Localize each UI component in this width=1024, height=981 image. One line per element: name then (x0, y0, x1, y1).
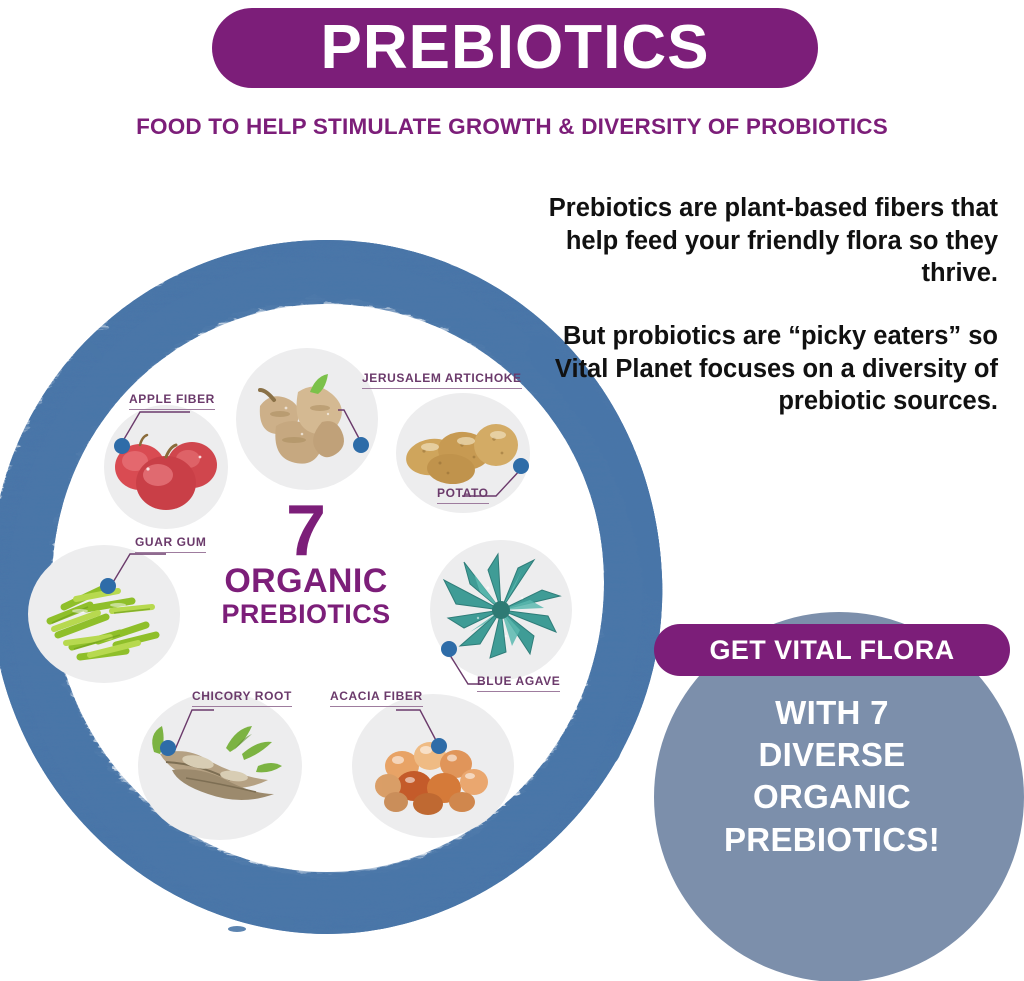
center-line-prebiotics: PREBIOTICS (200, 600, 412, 630)
prebiotic-count: 7 (200, 498, 412, 564)
center-line-organic: ORGANIC (200, 564, 412, 600)
food-label-potato: POTATO (437, 486, 489, 504)
intro-copy: Prebiotics are plant-based fibers that h… (538, 192, 998, 418)
infographic-canvas: PREBIOTICS FOOD TO HELP STIMULATE GROWTH… (0, 0, 1024, 981)
cta-line-3: ORGANIC (654, 776, 1010, 818)
food-label-guar-gum: GUAR GUM (135, 535, 206, 553)
chicory-root-icon (138, 692, 302, 840)
marker-dot-acacia-fiber (431, 738, 447, 754)
marker-dot-chicory-root (160, 740, 176, 756)
page-title-pill: PREBIOTICS (212, 8, 818, 88)
page-subtitle: FOOD TO HELP STIMULATE GROWTH & DIVERSIT… (0, 114, 1024, 140)
food-circle-apple-fiber (104, 405, 228, 529)
marker-dot-guar-gum (100, 578, 116, 594)
guar-bean-icon (28, 545, 180, 683)
food-circle-jerusalem-artichoke (236, 348, 378, 490)
jerusalem-artichoke-icon (236, 348, 378, 490)
acacia-resin-icon (352, 694, 514, 838)
food-label-acacia-fiber: ACACIA FIBER (330, 689, 423, 707)
marker-dot-apple-fiber (114, 438, 130, 454)
marker-dot-potato (513, 458, 529, 474)
food-label-chicory-root: CHICORY ROOT (192, 689, 292, 707)
food-circle-blue-agave (430, 540, 572, 680)
food-label-apple-fiber: APPLE FIBER (129, 392, 215, 410)
marker-dot-blue-agave (441, 641, 457, 657)
page-title: PREBIOTICS (321, 17, 710, 79)
food-circle-acacia-fiber (352, 694, 514, 838)
center-callout: 7 ORGANIC PREBIOTICS (200, 498, 412, 630)
cta-badge-label: GET VITAL FLORA (710, 635, 955, 666)
agave-icon (430, 540, 572, 680)
food-circle-chicory-root (138, 692, 302, 840)
intro-paragraph-2: But probiotics are “picky eaters” so Vit… (538, 320, 998, 418)
marker-dot-jerusalem-artichoke (353, 437, 369, 453)
food-label-jerusalem-artichoke: JERUSALEM ARTICHOKE (362, 371, 522, 389)
food-label-blue-agave: BLUE AGAVE (477, 674, 560, 692)
apple-icon (104, 405, 228, 529)
food-circle-guar-gum (28, 545, 180, 683)
cta-line-2: DIVERSE (654, 734, 1010, 776)
cta-message: WITH 7 DIVERSE ORGANIC PREBIOTICS! (654, 692, 1010, 861)
cta-line-1: WITH 7 (654, 692, 1010, 734)
cta-badge[interactable]: GET VITAL FLORA (654, 624, 1010, 676)
intro-paragraph-1: Prebiotics are plant-based fibers that h… (538, 192, 998, 290)
cta-line-4: PREBIOTICS! (654, 819, 1010, 861)
